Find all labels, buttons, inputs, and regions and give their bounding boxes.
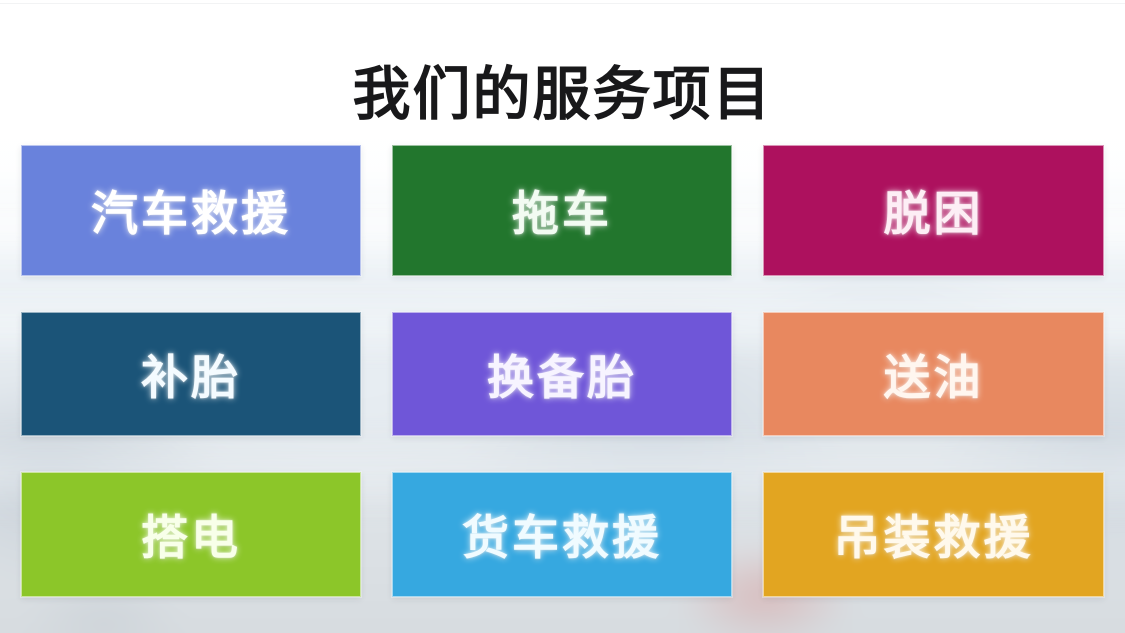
top-hairline-divider [0,3,1125,4]
service-poster: 我们的服务项目 汽车救援 拖车 脱困 补胎 换备胎 送油 搭电 货车救援 吊装救… [0,0,1125,633]
service-tile-label: 汽车救援 [91,175,291,244]
service-tile-label: 拖车 [512,175,612,244]
service-tile-label: 吊装救援 [834,499,1034,568]
service-tile-spare-tire-change[interactable]: 换备胎 [392,312,732,436]
service-tile-roadside-assistance[interactable]: 汽车救援 [21,145,361,276]
service-tile-towing[interactable]: 拖车 [392,145,732,276]
service-tile-label: 补胎 [141,339,241,408]
page-title: 我们的服务项目 [0,61,1125,129]
service-tile-fuel-delivery[interactable]: 送油 [763,312,1104,436]
service-tile-label: 货车救援 [462,499,662,568]
service-tile-jump-start[interactable]: 搭电 [21,472,361,597]
service-tile-grid: 汽车救援 拖车 脱困 补胎 换备胎 送油 搭电 货车救援 吊装救援 [21,145,1104,597]
service-tile-crane-lifting-rescue[interactable]: 吊装救援 [763,472,1104,597]
service-tile-label: 搭电 [141,499,241,568]
service-tile-truck-rescue[interactable]: 货车救援 [392,472,732,597]
service-tile-tire-repair[interactable]: 补胎 [21,312,361,436]
service-tile-label: 换备胎 [487,339,637,408]
service-tile-extrication[interactable]: 脱困 [763,145,1104,276]
service-tile-label: 送油 [884,339,984,408]
service-tile-label: 脱困 [884,175,984,244]
